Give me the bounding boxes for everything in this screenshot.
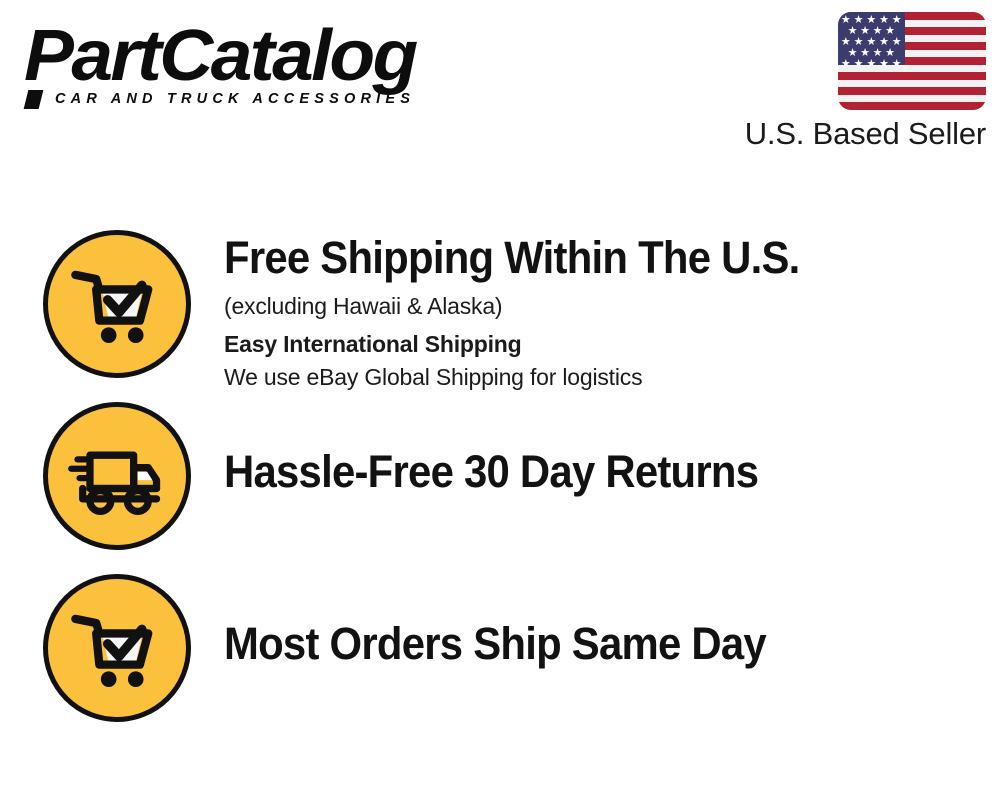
feature-heading: Most Orders Ship Same Day xyxy=(224,618,946,670)
feature-row-returns: Hassle-Free 30 Day Returns xyxy=(0,402,1000,574)
slash-mark-icon xyxy=(24,90,44,109)
delivery-truck-icon xyxy=(43,402,191,550)
shopping-cart-check-icon xyxy=(43,574,191,722)
feature-heading: Free Shipping Within The U.S. xyxy=(224,232,946,284)
feature-row-same-day: Most Orders Ship Same Day xyxy=(0,574,1000,746)
shopping-cart-check-icon xyxy=(43,230,191,378)
flag-canton: ★★★★★ ★★★★ ★★★★★ ★★★★ ★★★★★ xyxy=(838,12,905,65)
flag-star-row: ★★★★★ xyxy=(838,59,905,70)
feature-subtext-exclusions: (excluding Hawaii & Alaska) xyxy=(224,290,1000,323)
brand-tagline: CAR AND TRUCK ACCESSORIES xyxy=(55,91,415,107)
us-based-seller-label: U.S. Based Seller xyxy=(486,116,986,152)
feature-text-same-day: Most Orders Ship Same Day xyxy=(191,574,1000,670)
brand-wordmark: PartCatalog xyxy=(24,18,513,94)
brand-logo: PartCatalog CAR AND TRUCK ACCESSORIES xyxy=(24,18,494,118)
feature-text-returns: Hassle-Free 30 Day Returns xyxy=(191,402,1000,498)
feature-row-free-shipping: Free Shipping Within The U.S. (excluding… xyxy=(0,230,1000,402)
feature-subtext-logistics: We use eBay Global Shipping for logistic… xyxy=(224,361,1000,394)
feature-text-free-shipping: Free Shipping Within The U.S. (excluding… xyxy=(191,230,1000,394)
feature-list: Free Shipping Within The U.S. (excluding… xyxy=(0,230,1000,746)
us-flag-icon: ★★★★★ ★★★★ ★★★★★ ★★★★ ★★★★★ xyxy=(838,12,986,110)
feature-subtext-international: Easy International Shipping xyxy=(224,328,1000,361)
promo-banner: PartCatalog CAR AND TRUCK ACCESSORIES ★★… xyxy=(0,0,1000,800)
feature-heading: Hassle-Free 30 Day Returns xyxy=(224,446,946,498)
brand-tagline-row: CAR AND TRUCK ACCESSORIES xyxy=(24,88,494,110)
